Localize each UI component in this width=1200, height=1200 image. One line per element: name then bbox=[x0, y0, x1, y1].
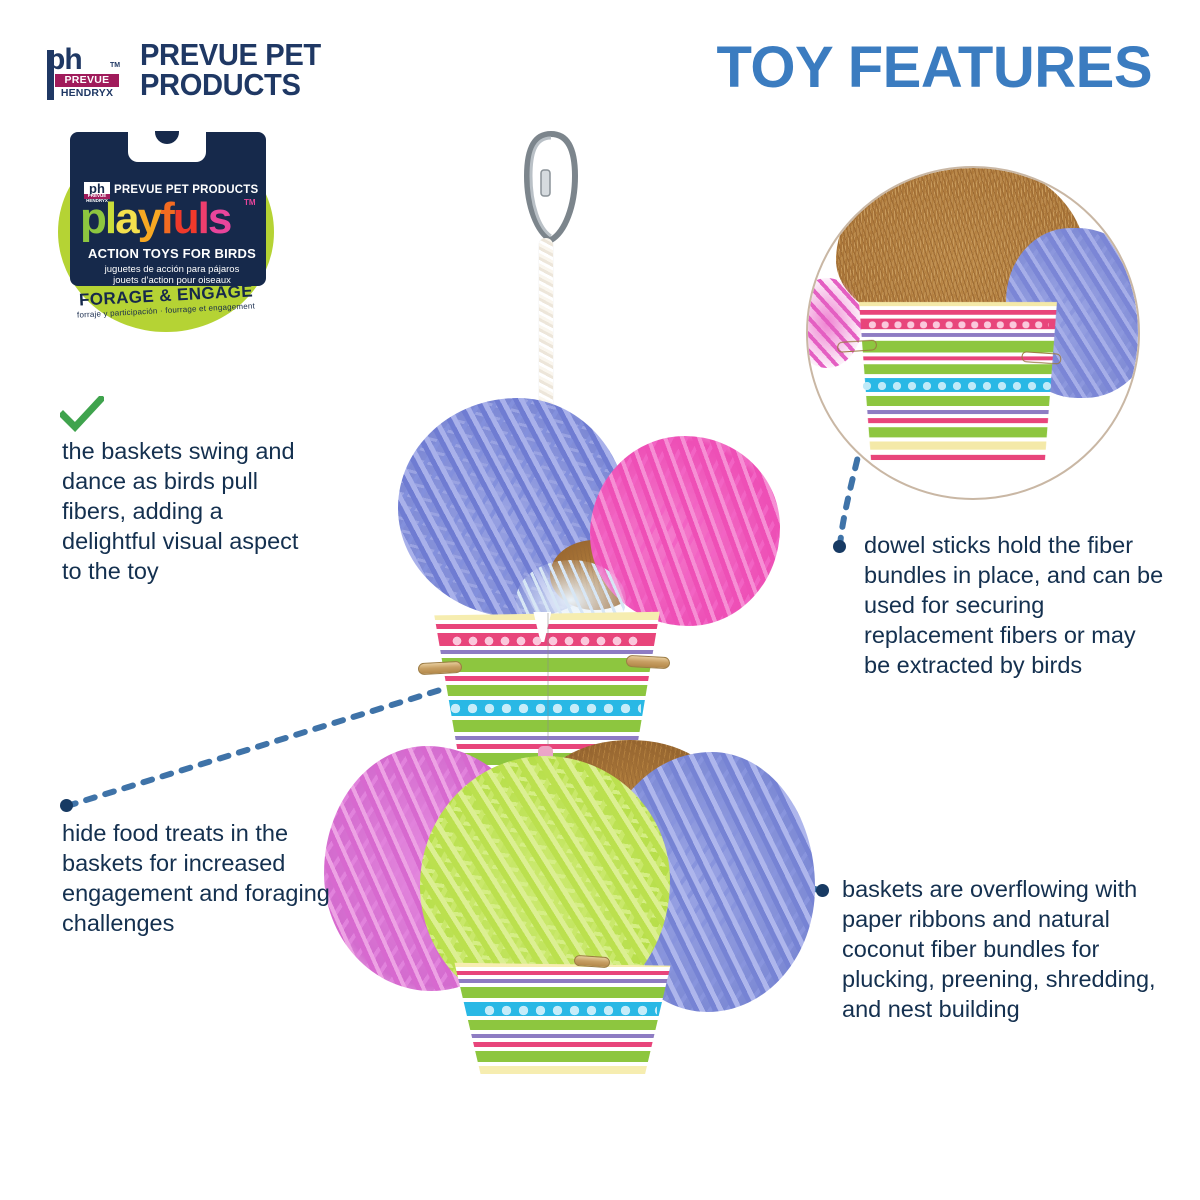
lower-striped-basket bbox=[450, 960, 675, 1100]
playfuls-letter-0: p bbox=[80, 194, 105, 243]
upper-basket-cyan-dot-band bbox=[448, 702, 641, 715]
playfuls-letter-3: y bbox=[138, 194, 160, 243]
playfuls-letter-6: l bbox=[198, 194, 208, 243]
carabiner-clip-icon bbox=[523, 128, 579, 248]
inset-basket-cyan-dot-band bbox=[861, 380, 1055, 392]
badge-tagline: ACTION TOYS FOR BIRDS bbox=[82, 246, 262, 261]
playfuls-letter-2: a bbox=[115, 194, 137, 243]
prevue-hendryx-logo: ph TM PREVUE HENDRYX bbox=[47, 46, 133, 100]
playfuls-badge: ph PREVUE HENDRYX PREVUE PET PRODUCTS pl… bbox=[58, 124, 284, 340]
logo-hendryx-band: HENDRYX bbox=[55, 87, 119, 100]
feature-swing-and-dance: the baskets swing and dance as birds pul… bbox=[62, 436, 322, 586]
upper-basket-dowel-left bbox=[418, 661, 463, 675]
brand-name-line-1: PREVUE PET bbox=[140, 40, 450, 70]
logo-prevue-band: PREVUE bbox=[55, 74, 119, 87]
lower-basket-cyan-dot-band bbox=[482, 1004, 658, 1017]
upper-basket-dowel-right bbox=[626, 655, 671, 669]
check-icon bbox=[60, 396, 104, 432]
product-photo bbox=[300, 120, 860, 1120]
feature-hide-food-treats: hide food treats in the baskets for incr… bbox=[62, 818, 337, 938]
feature-dowel-sticks: dowel sticks hold the fiber bundles in p… bbox=[864, 530, 1164, 680]
brand-name-line-2: PRODUCTS bbox=[140, 70, 450, 100]
playfuls-letter-1: l bbox=[105, 194, 115, 243]
logo-tm-icon: TM bbox=[110, 62, 120, 69]
badge-tagline-es: juguetes de acción para pájaros bbox=[82, 264, 262, 275]
brand-name: PREVUE PETPRODUCTS bbox=[140, 40, 450, 100]
bullet-dot-overflowing-baskets bbox=[816, 884, 829, 897]
upper-basket-pink-dot-band bbox=[450, 635, 639, 647]
logo-ph-mark: ph bbox=[47, 46, 119, 76]
playfuls-letter-7: s bbox=[208, 194, 230, 243]
playfuls-letter-5: u bbox=[173, 194, 198, 243]
feature-overflowing-baskets: baskets are overflowing with paper ribbo… bbox=[842, 874, 1162, 1024]
inset-basket-pink-dot-band bbox=[867, 320, 1049, 331]
bullet-dot-dowel-sticks bbox=[833, 540, 846, 553]
inset-closeup-photo bbox=[806, 166, 1140, 500]
inset-striped-basket bbox=[845, 299, 1070, 478]
infographic-canvas: ph TM PREVUE HENDRYX PREVUE PETPRODUCTS … bbox=[0, 0, 1200, 1200]
inset-photo-content bbox=[808, 168, 1138, 498]
lower-basket-stripes bbox=[450, 960, 675, 1100]
playfuls-letter-4: f bbox=[160, 194, 173, 243]
badge-hang-tab bbox=[128, 132, 206, 162]
bullet-dot-hide-food-treats bbox=[60, 799, 73, 812]
page-title: TOY FEATURES bbox=[716, 34, 1152, 101]
playfuls-tm-icon: TM bbox=[244, 198, 256, 207]
